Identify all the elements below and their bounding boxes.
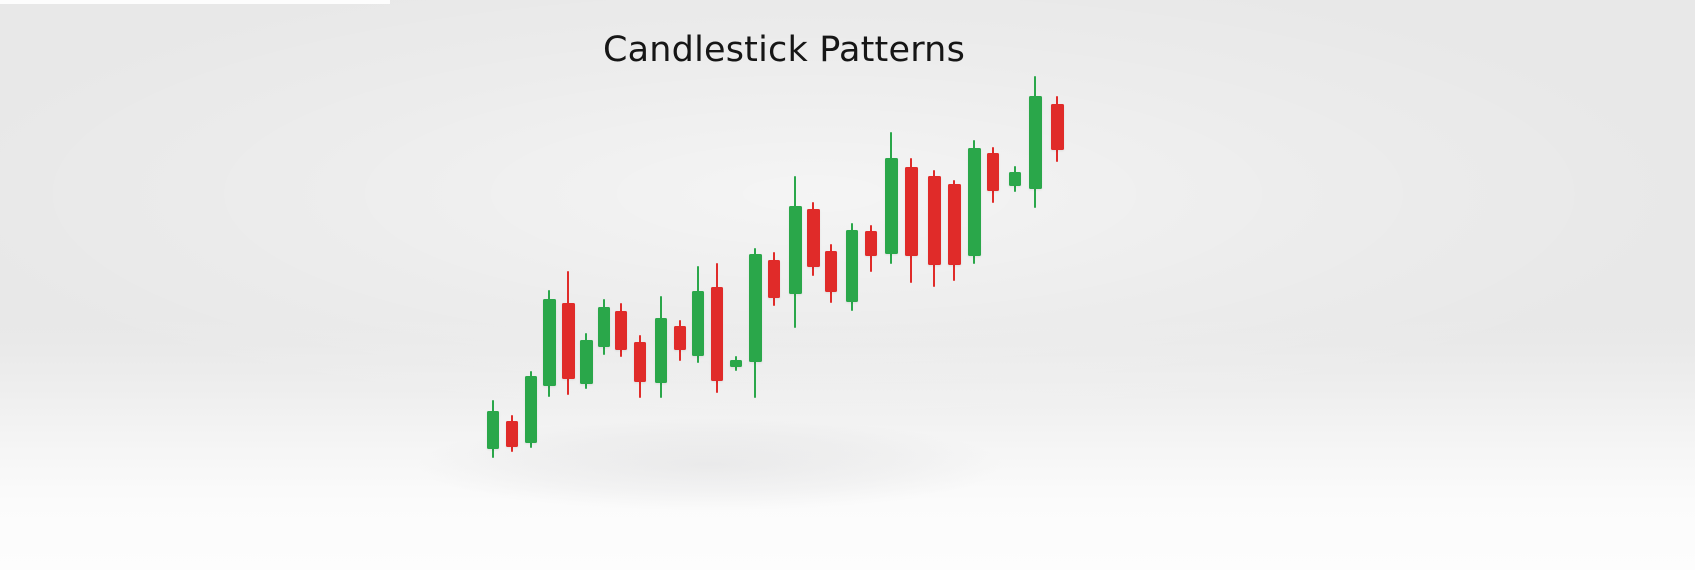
candlestick-body <box>789 206 802 294</box>
candlestick-chart-scene: Candlestick Patterns <box>0 0 1695 570</box>
candlestick-body <box>487 411 499 449</box>
candlestick-body <box>865 231 877 256</box>
candlestick-body <box>1029 96 1042 189</box>
candlestick-body <box>768 260 780 298</box>
candlestick-body <box>562 303 575 379</box>
candlestick-body <box>692 291 704 356</box>
candlestick-body <box>525 376 537 443</box>
candlestick-body <box>506 421 518 447</box>
candlestick-body <box>846 230 858 302</box>
candlestick-body <box>1009 172 1021 186</box>
candlestick-body <box>674 326 686 350</box>
candlestick-body <box>580 340 593 384</box>
candlestick-body <box>730 360 742 367</box>
candlestick-body <box>655 318 667 383</box>
candlestick-plot <box>0 0 1695 570</box>
candlestick-body <box>1051 104 1064 150</box>
candlestick-body <box>807 209 820 267</box>
candlestick-body <box>905 167 918 256</box>
candlestick-body <box>598 307 610 347</box>
candlestick-body <box>987 153 999 191</box>
candlestick-body <box>948 184 961 265</box>
candlestick-body <box>825 251 837 292</box>
candlestick-body <box>928 176 941 265</box>
candlestick-body <box>749 254 762 362</box>
candlestick-body <box>634 342 646 382</box>
candlestick-body <box>968 148 981 256</box>
candlestick-body <box>885 158 898 254</box>
candlestick-body <box>615 311 627 350</box>
candlestick-body <box>711 287 723 381</box>
candlestick-body <box>543 299 556 386</box>
